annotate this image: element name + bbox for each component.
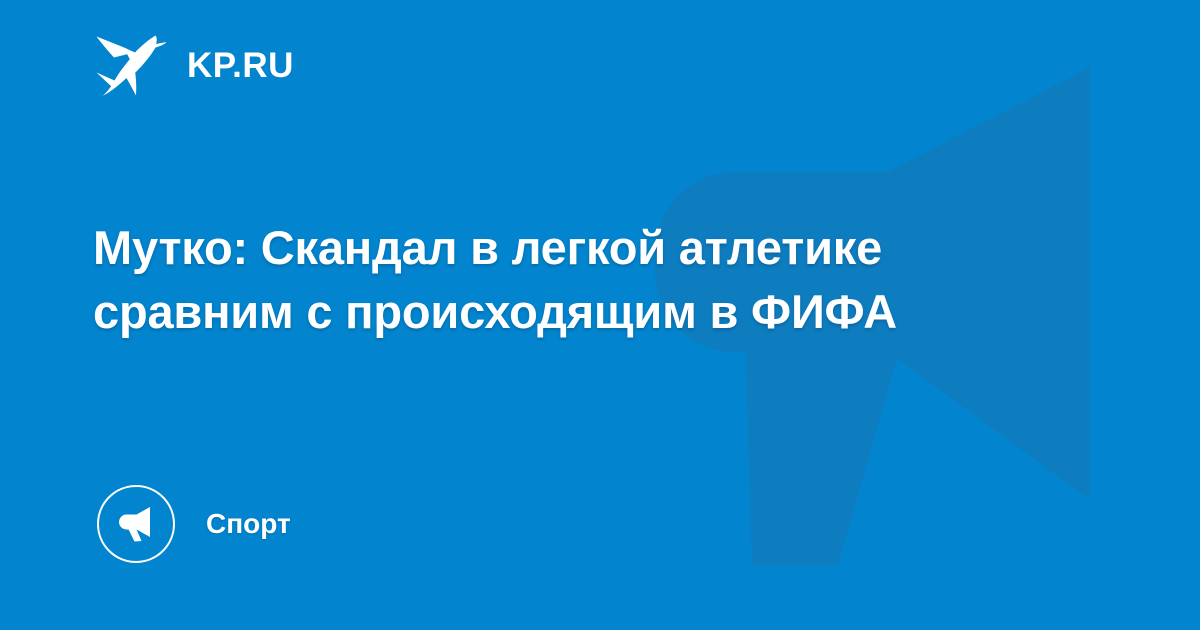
swallow-bird-logo-icon (93, 34, 167, 96)
article-share-card: KP.RU Мутко: Скандал в легкой атлетике с… (0, 0, 1200, 630)
megaphone-icon (113, 501, 159, 547)
category-badge[interactable]: Спорт (97, 484, 291, 564)
brand-name: KP.RU (187, 48, 294, 83)
brand-header[interactable]: KP.RU (93, 35, 294, 95)
category-label: Спорт (206, 510, 291, 538)
article-headline: Мутко: Скандал в легкой атлетике сравним… (93, 216, 1093, 344)
category-icon-circle (97, 485, 175, 563)
